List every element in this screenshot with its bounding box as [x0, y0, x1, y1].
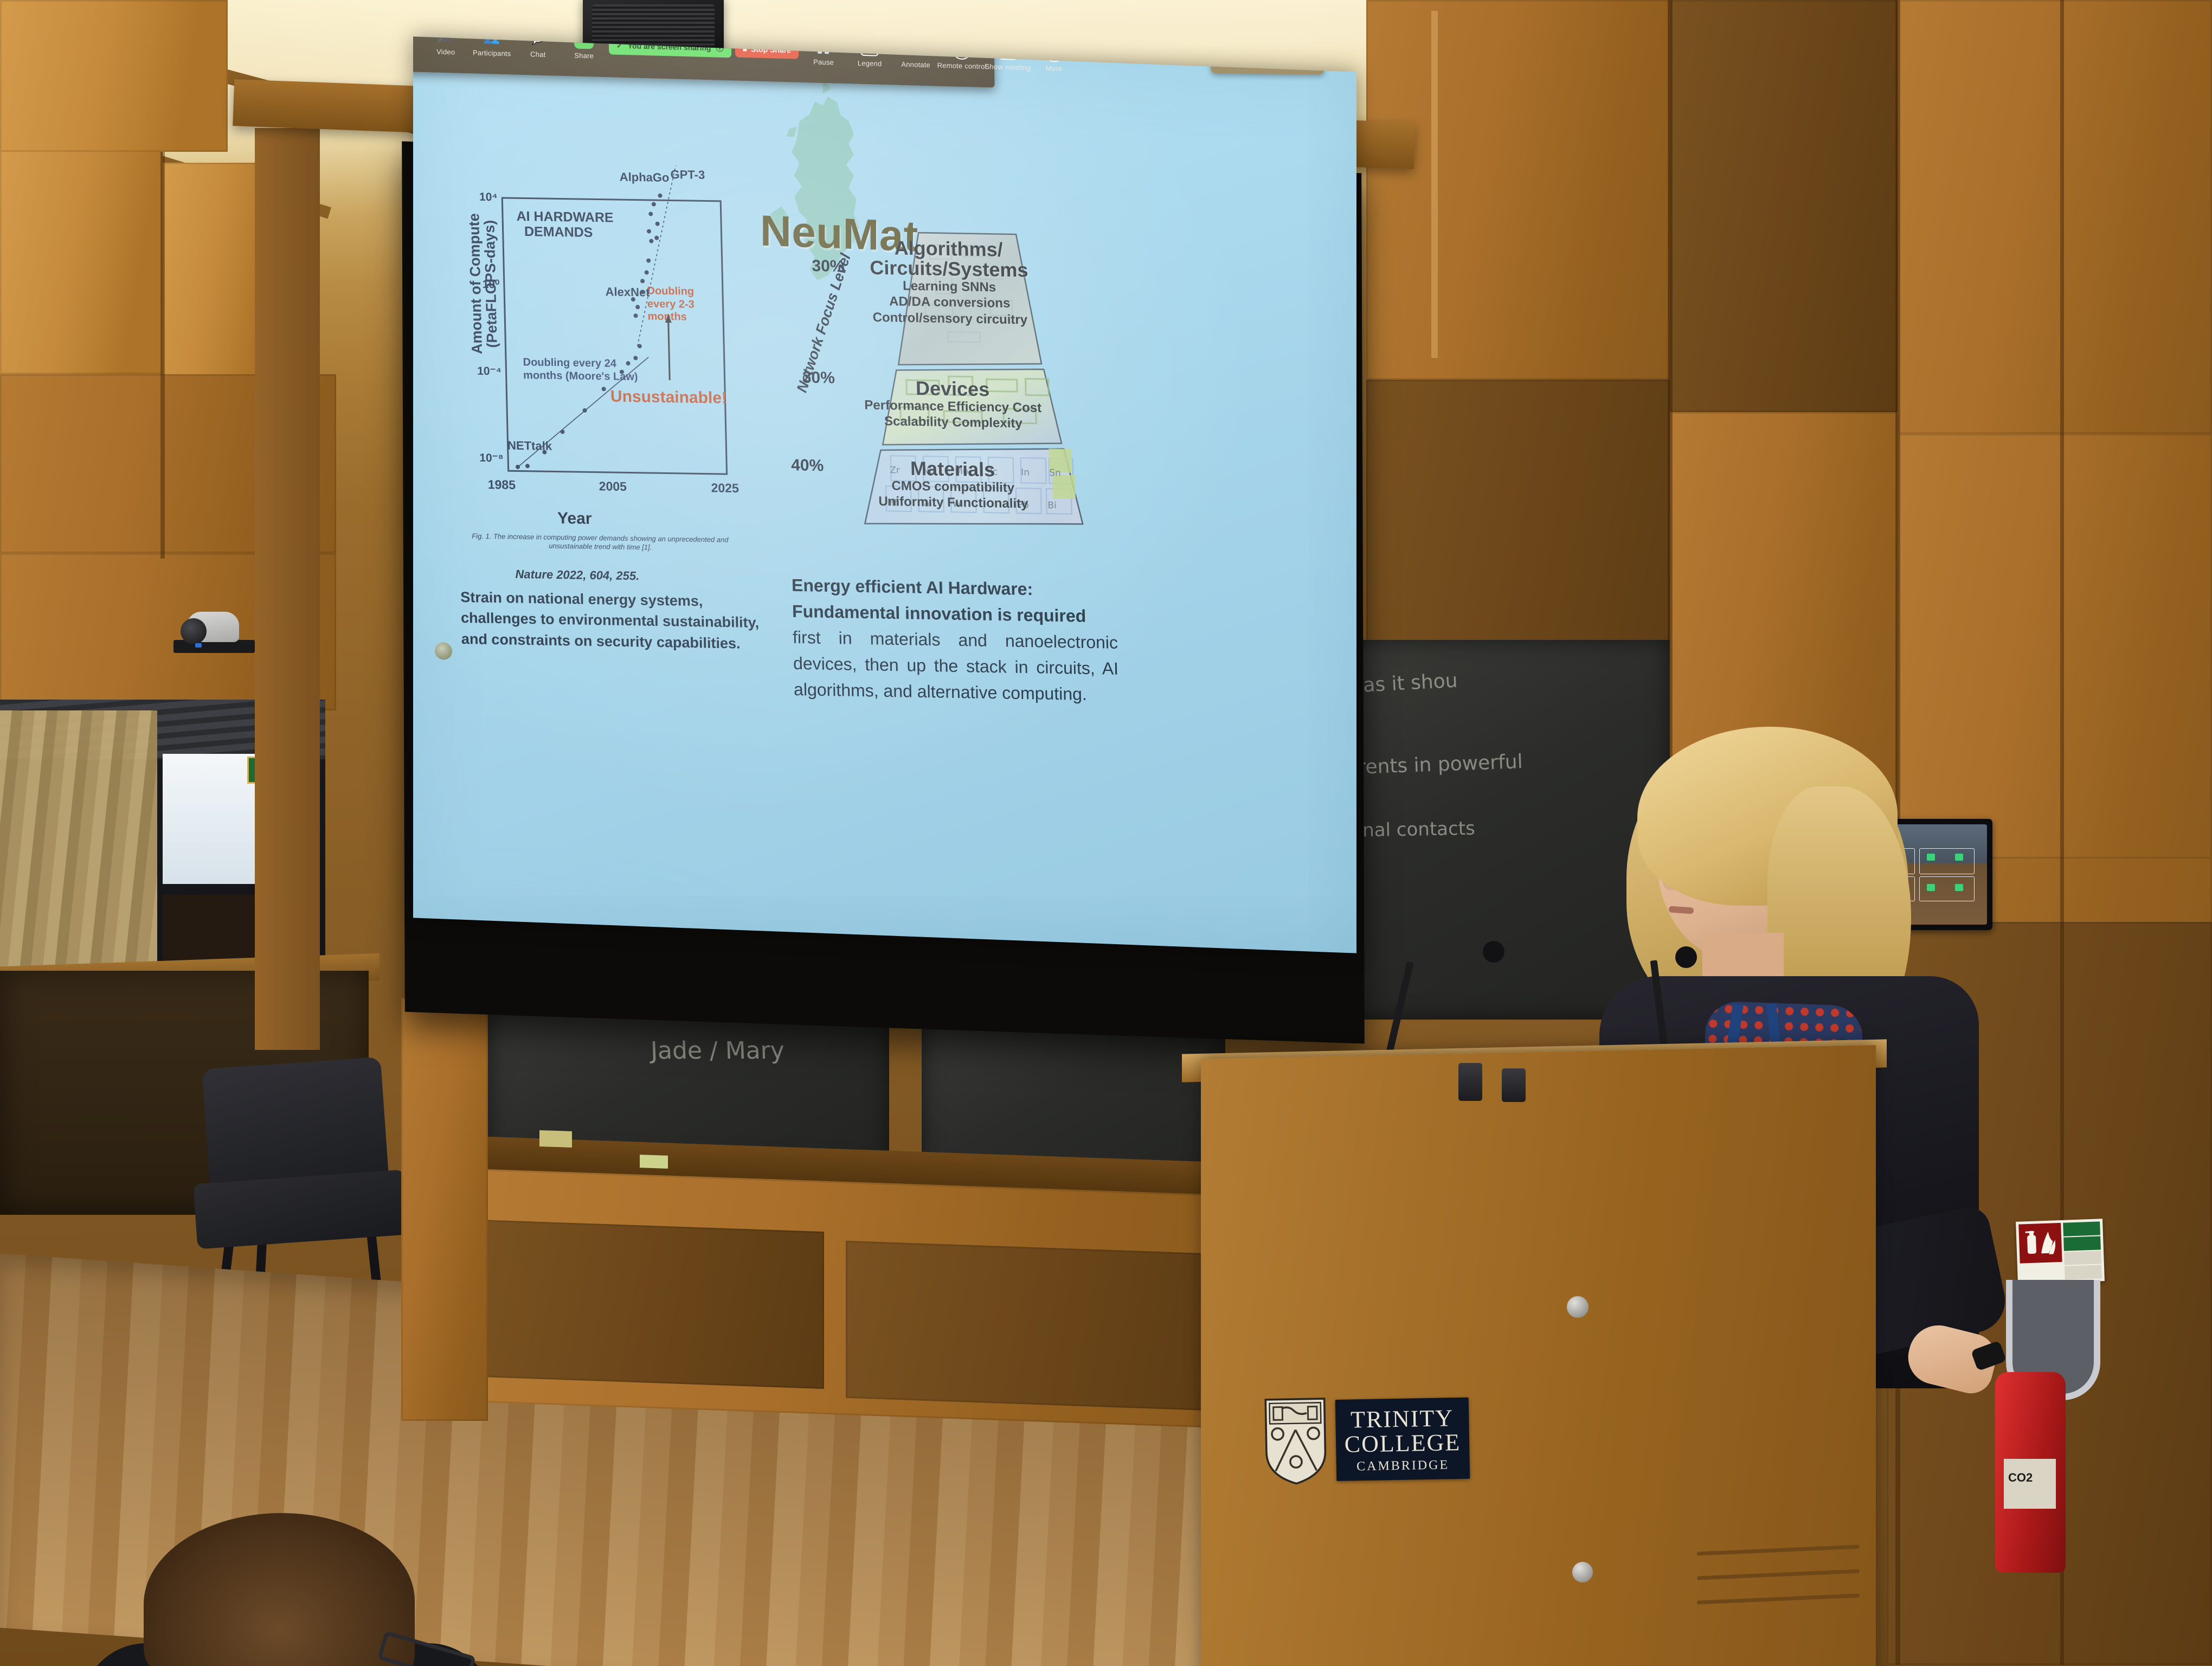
fire-extinguisher-sign-icon: [2016, 1219, 2105, 1284]
button-label: Legend: [858, 59, 882, 68]
pyramid-tier-top: Algorithms/Circuits/Systems Learning SNN…: [853, 237, 1045, 328]
network-focus-pyramid: Network Focus Level 30% 30% 40%: [789, 233, 1089, 541]
plaque-line-3: CAMBRIDGE: [1345, 1458, 1461, 1475]
lectern-control-knob[interactable]: [1458, 1063, 1482, 1101]
plaque-line-1: TRINITY: [1344, 1406, 1461, 1433]
tier-item: Scalability Complexity: [853, 413, 1054, 432]
chalk-stick: [640, 1155, 668, 1169]
tier-percent-top: 30%: [812, 257, 845, 276]
plaque-plate: TRINITY COLLEGE CAMBRIDGE: [1335, 1398, 1470, 1481]
button-label: Chat: [530, 50, 545, 59]
camera-lens-icon: [181, 618, 207, 644]
projection-screen: NeuMat Amount of Compute(PetaFLOPS-days)…: [413, 36, 1356, 953]
wood-beam: [255, 128, 320, 1050]
tier-title: Algorithms/Circuits/Systems: [853, 237, 1044, 280]
chalk-text: ...rents in powerful: [1339, 751, 1523, 779]
tier-item: Control/sensory circuitry: [855, 309, 1045, 328]
extinguisher-flame-icon: [2022, 1227, 2059, 1259]
control-button[interactable]: [1955, 854, 1963, 861]
button-label: Remote control: [937, 61, 987, 71]
wall-panel: [401, 998, 488, 1421]
button-label: Participants: [473, 49, 511, 58]
x-tick-label: 1985: [487, 477, 516, 492]
wall-panel: [0, 0, 228, 152]
lectern-screw: [1567, 1296, 1589, 1318]
camera-led-indicator: [195, 643, 202, 648]
point-label-alphago: AlphaGo: [619, 170, 669, 185]
tier-percent-mid: 30%: [802, 369, 835, 388]
zoom-mute-button[interactable]: 🎙 Mute: [413, 36, 421, 55]
lectern-control-knob[interactable]: [1502, 1068, 1526, 1102]
sign-instruction-grid: [2063, 1221, 2102, 1279]
y-tick-label: 10⁻⁸: [479, 451, 504, 465]
plaque-line-2: COLLEGE: [1344, 1431, 1461, 1457]
chart-x-axis-label: Year: [557, 509, 592, 528]
wall-panel: [0, 146, 163, 374]
microphone-head-icon: [1675, 946, 1697, 968]
chart-data-layer: [503, 198, 726, 473]
panel-highlight: [1431, 11, 1438, 358]
y-tick-label: 10⁻⁴: [477, 364, 501, 379]
zoom-video-button[interactable]: 🎥 Video: [425, 36, 467, 56]
chart-plot-area: 10⁴ 10⁰ 10⁻⁴ 10⁻⁸ 1985 2005 2025 AI HARD…: [501, 197, 728, 475]
wall-panel: [846, 1241, 1225, 1411]
chart-source: Nature 2022, 604, 255.: [515, 567, 639, 583]
camera-icon: 🎥: [436, 36, 455, 45]
lectern-screw: [1572, 1562, 1593, 1582]
button-label: Show meeting: [985, 62, 1031, 72]
pyramid-tier-mid: Devices Performance Efficiency Cost Scal…: [852, 377, 1054, 432]
point-label-gpt3: GPT-3: [670, 168, 705, 182]
button-label: Annotate: [901, 60, 930, 69]
panel-groove: [160, 146, 165, 559]
slide-content: NeuMat Amount of Compute(PetaFLOPS-days)…: [413, 36, 1356, 953]
button-label: Pause: [813, 58, 834, 67]
pyramid-tier-bottom: Materials CMOS compatibility Uniformity …: [844, 457, 1062, 512]
slide-corner-logo: [435, 642, 452, 660]
wall-panel: [1898, 0, 2212, 434]
extinguisher-pictogram: [2018, 1223, 2062, 1264]
microphone-head-icon: [1483, 941, 1504, 963]
ai-hardware-demands-chart: Amount of Compute(PetaFLOPS-days) 10⁴ 10…: [441, 187, 753, 560]
photo-scene: ...as it shou ...rents in powerful ...on…: [0, 0, 2212, 1666]
button-label: Video: [436, 48, 455, 56]
trinity-crest-icon: [1263, 1396, 1329, 1486]
tier-percent-bottom: 40%: [791, 456, 824, 475]
button-label: Share: [574, 52, 594, 60]
wall-panel: [477, 1220, 824, 1389]
energy-text-block: Energy efficient AI Hardware: Fundamenta…: [792, 572, 1120, 708]
trinity-college-plaque: TRINITY COLLEGE CAMBRIDGE: [1262, 1384, 1470, 1496]
strain-text-block: Strain on national energy systems, chall…: [460, 587, 792, 655]
x-tick-label: 2005: [599, 479, 627, 494]
energy-body: first in materials and nanoelectronic de…: [793, 624, 1120, 708]
wall-panel: [1366, 0, 1670, 380]
button-label: More: [1046, 64, 1063, 73]
chalk-eraser: [539, 1130, 572, 1148]
control-button[interactable]: [1955, 884, 1963, 891]
chalk-text: Jade / Mary: [650, 1037, 785, 1065]
y-tick-label: 10⁰: [482, 278, 499, 291]
extinguisher-co2-label: CO2: [2008, 1471, 2033, 1485]
wall-panel: [1670, 0, 1898, 412]
zoom-participants-button[interactable]: 👥 Participants: [471, 36, 513, 57]
chart-caption: Fig. 1. The increase in computing power …: [465, 532, 736, 554]
x-tick-label: 2025: [711, 480, 739, 496]
tier-title: Devices: [852, 377, 1053, 400]
y-tick-label: 10⁴: [479, 191, 498, 204]
